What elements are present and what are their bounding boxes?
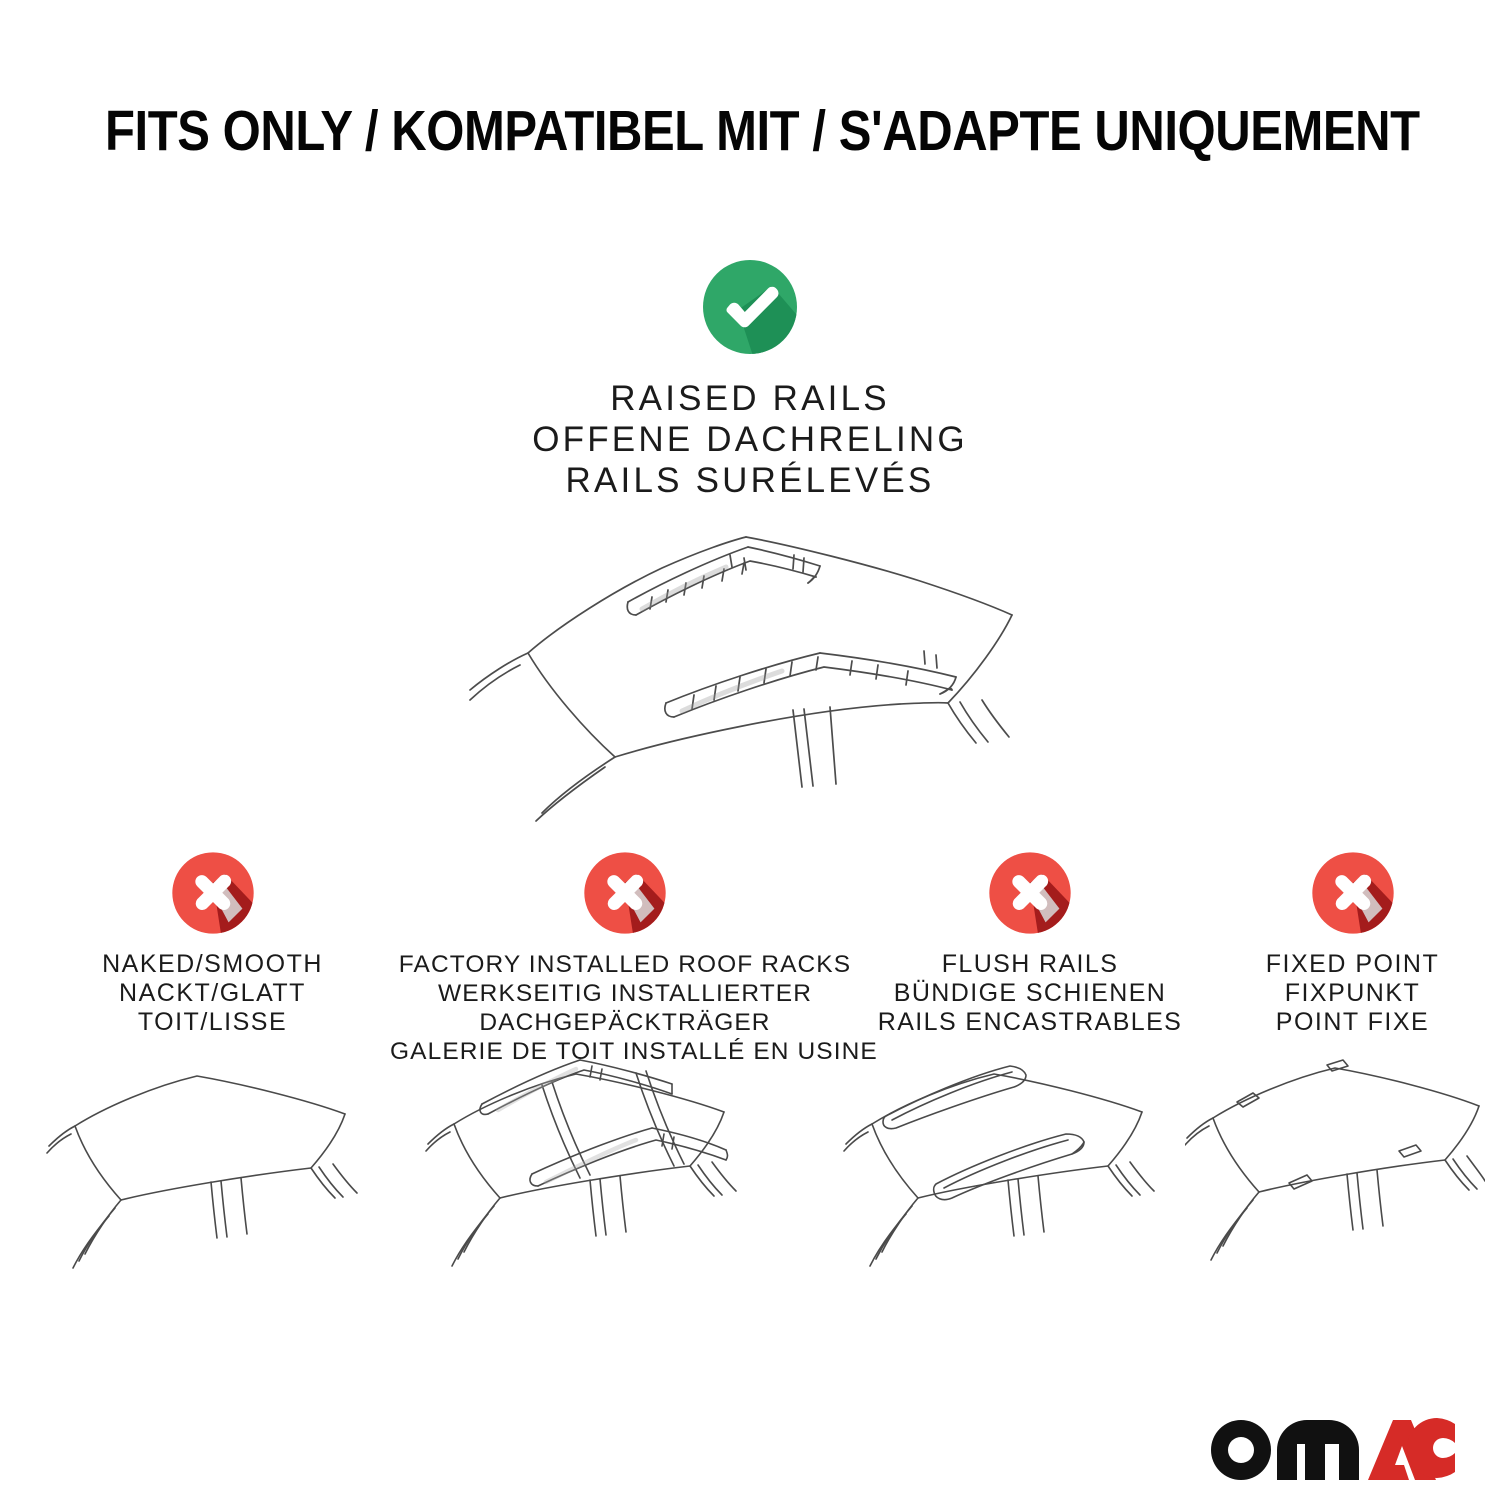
incompatible-labels: FACTORY INSTALLED ROOF RACKS WERKSEITIG … xyxy=(390,950,860,1066)
logo-letter-m xyxy=(1277,1420,1359,1480)
label-de-2: DACHGEPÄCKTRÄGER xyxy=(390,1008,860,1037)
car-roof-flush-rails-illustration xyxy=(840,1058,1170,1308)
x-circle-icon xyxy=(1308,848,1398,938)
compatible-label-de: OFFENE DACHRELING xyxy=(0,419,1500,460)
car-roof-raised-rails-illustration xyxy=(400,505,1100,835)
fitment-infographic: FITS ONLY / KOMPATIBEL MIT / S'ADAPTE UN… xyxy=(0,0,1500,1500)
label-fr: TOIT/LISSE xyxy=(40,1008,385,1037)
label-fr: POINT FIXE xyxy=(1205,1008,1500,1037)
x-circle-icon xyxy=(985,848,1075,938)
label-de: NACKT/GLATT xyxy=(40,979,385,1008)
label-en: FIXED POINT xyxy=(1205,950,1500,979)
car-roof-fixed-point-illustration xyxy=(1185,1058,1485,1308)
label-de-1: WERKSEITIG INSTALLIERTER xyxy=(390,979,860,1008)
label-en: FACTORY INSTALLED ROOF RACKS xyxy=(390,950,860,979)
incompatible-labels: NAKED/SMOOTH NACKT/GLATT TOIT/LISSE xyxy=(40,950,385,1037)
x-circle-icon xyxy=(580,848,670,938)
car-roof-factory-racks-illustration xyxy=(420,1058,770,1308)
compatible-badge-row xyxy=(0,255,1500,364)
label-de: BÜNDIGE SCHIENEN xyxy=(865,979,1195,1008)
check-circle-icon xyxy=(698,255,802,359)
page-title: FITS ONLY / KOMPATIBEL MIT / S'ADAPTE UN… xyxy=(105,98,1395,164)
incompatible-labels: FIXED POINT FIXPUNKT POINT FIXE xyxy=(1205,950,1500,1037)
label-en: NAKED/SMOOTH xyxy=(40,950,385,979)
incompatible-item-fixed-point: FIXED POINT FIXPUNKT POINT FIXE xyxy=(1205,848,1500,1037)
car-roof-naked-illustration xyxy=(45,1058,375,1308)
incompatible-labels: FLUSH RAILS BÜNDIGE SCHIENEN RAILS ENCAS… xyxy=(865,950,1195,1037)
omac-logo xyxy=(1205,1414,1455,1480)
label-fr: RAILS ENCASTRABLES xyxy=(865,1008,1195,1037)
logo-letter-o xyxy=(1211,1420,1271,1480)
x-circle-icon xyxy=(168,848,258,938)
incompatible-item-naked-smooth: NAKED/SMOOTH NACKT/GLATT TOIT/LISSE xyxy=(40,848,385,1037)
incompatible-item-factory-roof-racks: FACTORY INSTALLED ROOF RACKS WERKSEITIG … xyxy=(390,848,860,1066)
incompatible-item-flush-rails: FLUSH RAILS BÜNDIGE SCHIENEN RAILS ENCAS… xyxy=(865,848,1195,1037)
compatible-labels: RAISED RAILS OFFENE DACHRELING RAILS SUR… xyxy=(0,378,1500,501)
label-en: FLUSH RAILS xyxy=(865,950,1195,979)
roof-type-illustrations xyxy=(0,1058,1500,1318)
label-de: FIXPUNKT xyxy=(1205,979,1500,1008)
compatible-label-fr: RAILS SURÉLEVÉS xyxy=(0,460,1500,501)
compatible-label-en: RAISED RAILS xyxy=(0,378,1500,419)
